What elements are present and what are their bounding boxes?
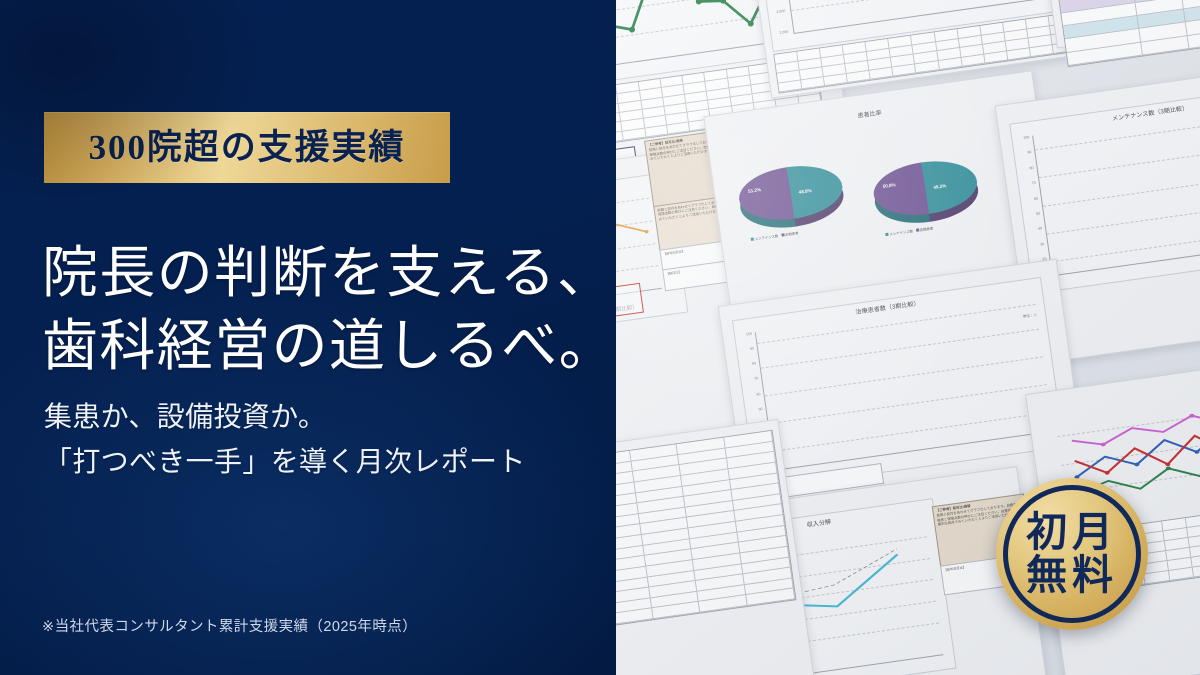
hero-banner: 300院超の支援実績 院長の判断を支える、 歯科経営の道しるべ。 集患か、設備投… (0, 0, 1200, 675)
bar-group (892, 450, 914, 453)
bar (915, 449, 920, 450)
bar-group (1074, 270, 1093, 273)
bar (862, 23, 867, 24)
y-tick: 80 (1018, 167, 1034, 173)
y-tick: 80 (740, 363, 756, 369)
page-title: 院長の判断を支える、 歯科経営の道しるべ。 (42, 238, 602, 386)
bar (932, 447, 937, 448)
sub-copy: 集患か、設備投資か。 「打つべき一手」を導く月次レポート (44, 395, 604, 486)
bar-group (1008, 434, 1030, 437)
bar (811, 30, 816, 31)
bar (1089, 270, 1093, 271)
bar (973, 7, 978, 8)
bar-group (795, 30, 816, 33)
bar (985, 440, 990, 441)
bar (1024, 434, 1029, 435)
seal-line-2: 無料 (1026, 554, 1118, 597)
bar (917, 15, 922, 16)
bar (1000, 3, 1005, 4)
note-label: 【前月比】 (666, 270, 682, 276)
bar-group (1178, 255, 1197, 258)
note-label: 【前年同月比】 (943, 565, 966, 572)
bar (793, 467, 798, 468)
bar (1188, 256, 1192, 257)
bar (833, 461, 838, 462)
bar (880, 454, 885, 455)
seal-line-1: 初月 (1026, 511, 1118, 554)
bar (1136, 263, 1140, 264)
bar (921, 449, 926, 450)
y-tick: 1,000 (772, 31, 788, 37)
bar-group (951, 8, 972, 11)
bar-group (938, 444, 960, 447)
bar (1095, 269, 1099, 270)
subcopy-line-1: 集患か、設備投資か。 (44, 395, 604, 440)
bar (961, 443, 966, 444)
bar (1064, 273, 1068, 274)
bar (840, 26, 845, 27)
legend-label: 定期患者 (785, 231, 799, 237)
bar (878, 20, 883, 21)
bar (912, 16, 917, 17)
bar (806, 31, 811, 32)
bar (889, 19, 894, 20)
bar-group (799, 463, 821, 466)
bar (816, 463, 821, 464)
bar (1162, 259, 1166, 260)
y-tick: 50 (1024, 212, 1040, 218)
bar (956, 9, 961, 10)
bar (926, 448, 931, 449)
y-tick: 90 (738, 348, 754, 354)
y-tick: 30 (1028, 243, 1044, 249)
bar-group (822, 460, 844, 463)
bar (1116, 266, 1120, 267)
bar (978, 6, 983, 7)
bar (922, 14, 927, 15)
bar-group (1136, 261, 1155, 264)
bar (990, 439, 995, 440)
bar (1006, 2, 1011, 3)
bar (1013, 436, 1018, 437)
bar (787, 467, 792, 468)
bar (1141, 262, 1145, 263)
bar (972, 441, 977, 442)
bar (934, 13, 939, 14)
bar (1121, 265, 1125, 266)
legend-label: 定期患者 (919, 226, 933, 232)
y-tick: 90 (1015, 151, 1031, 157)
bar (906, 16, 911, 17)
bar (978, 441, 983, 442)
bar (983, 6, 988, 7)
data-table (1045, 0, 1200, 67)
achievement-badge: 300院超の支援実績 (44, 112, 450, 183)
legend-item: メンテナンス数 (885, 228, 913, 237)
bar (961, 9, 966, 10)
bar (944, 11, 949, 12)
bar (1126, 264, 1130, 265)
bar (944, 445, 949, 446)
bar (900, 17, 905, 18)
bar (1059, 274, 1063, 275)
seal-label: 初月 無料 (1026, 511, 1118, 596)
bar (951, 10, 956, 11)
bar (845, 25, 850, 26)
y-tick: 70 (742, 378, 758, 384)
legend-item: 定期患者 (915, 225, 933, 232)
bar (955, 444, 960, 445)
bar-group (961, 441, 983, 444)
legend-item: メンテナンス数 (750, 233, 778, 242)
bar (996, 438, 1001, 439)
bar (810, 464, 815, 465)
bar (908, 450, 913, 451)
note-label: 【前年同月比】 (663, 249, 686, 256)
headline-line-2: 歯科経営の道しるべ。 (42, 311, 602, 385)
bar (839, 460, 844, 461)
bar-group (915, 447, 937, 450)
bar (1084, 270, 1088, 271)
data-table (616, 430, 796, 631)
legend-label: メンテナンス数 (889, 229, 913, 236)
chart-pie-right: 50.8% 49.2% メンテナンス数 定期患者 (859, 127, 1003, 254)
bar (851, 458, 856, 459)
bar (967, 442, 972, 443)
bar (846, 459, 851, 460)
bar (967, 8, 972, 9)
chart-pie-left: 51.2% 48.8% メンテナンス数 定期患者 (724, 132, 868, 259)
bar (1167, 259, 1171, 260)
bar (1074, 272, 1078, 273)
left-copy-panel: 300院超の支援実績 院長の判断を支える、 歯科経営の道しるべ。 集患か、設備投… (0, 0, 616, 675)
bar (823, 28, 828, 29)
bar (833, 27, 838, 28)
bar (939, 12, 944, 13)
y-tick: 60 (744, 393, 760, 399)
y-tick: 2,000 (769, 10, 785, 16)
bar (1193, 255, 1197, 256)
bar (1146, 261, 1150, 262)
bar (938, 446, 943, 447)
bar (884, 20, 889, 21)
bar (869, 456, 874, 457)
y-tick: 50 (747, 408, 763, 414)
bar (1183, 256, 1187, 257)
bar-group (862, 20, 883, 23)
bar (989, 5, 994, 6)
bar (885, 454, 890, 455)
bar-group (818, 27, 839, 30)
bar (929, 13, 934, 14)
bar (867, 22, 872, 23)
bar-group (1017, 0, 1038, 2)
bar (856, 24, 861, 25)
y-tick: 100 (1013, 136, 1029, 142)
bar (1157, 260, 1161, 261)
bar (1017, 1, 1022, 2)
bar-group (906, 14, 927, 17)
legend-label: メンテナンス数 (755, 234, 779, 241)
y-tick: 100 (736, 333, 752, 339)
bar (862, 457, 867, 458)
y-tick: 40 (1026, 228, 1042, 234)
bar (1131, 264, 1135, 265)
headline-line-1: 院長の判断を支える、 (42, 238, 602, 312)
bar (903, 451, 908, 452)
bar (1151, 261, 1155, 262)
bar-group (1116, 264, 1135, 267)
bar (1100, 268, 1104, 269)
achievement-badge-label: 300院超の支援実績 (89, 130, 406, 165)
bar (874, 455, 879, 456)
bar (799, 466, 804, 467)
bar (818, 29, 823, 30)
bar (1178, 257, 1182, 258)
bar (1011, 2, 1016, 3)
bar (1019, 435, 1024, 436)
bar-group (869, 454, 891, 457)
bar (949, 445, 954, 446)
bar-group (1157, 258, 1176, 261)
bar (1105, 267, 1109, 268)
bar (892, 453, 897, 454)
bar (822, 462, 827, 463)
bar-group (929, 11, 950, 14)
y-tick: 60 (1022, 197, 1038, 203)
bar (1022, 0, 1027, 1)
bar-group (995, 2, 1016, 5)
footnote: ※当社代表コンサルタント累計支援実績（2025年時点） (42, 615, 417, 636)
bar (828, 462, 833, 463)
legend-item: 定期患者 (781, 230, 799, 237)
subcopy-line-2: 「打つべき一手」を導く月次レポート (44, 440, 604, 485)
bar (857, 458, 862, 459)
bar (895, 18, 900, 19)
bar (1008, 436, 1013, 437)
bar (1172, 258, 1176, 259)
bar-group (985, 437, 1007, 440)
bar-group (840, 24, 861, 27)
bar (897, 452, 902, 453)
bar (795, 32, 800, 33)
bar (873, 21, 878, 22)
bar-group (973, 5, 994, 8)
bar (1068, 272, 1072, 273)
first-month-free-seal: 初月 無料 (996, 478, 1148, 630)
bar-group (884, 17, 905, 20)
bar-group (1095, 267, 1114, 270)
bar (995, 4, 1000, 5)
bar (850, 24, 855, 25)
bar (1110, 267, 1114, 268)
bar-group (846, 457, 868, 460)
bar (805, 465, 810, 466)
bar (801, 31, 806, 32)
bar (828, 27, 833, 28)
bar (1079, 271, 1083, 272)
bar (1001, 437, 1006, 438)
y-tick: 70 (1020, 182, 1036, 188)
